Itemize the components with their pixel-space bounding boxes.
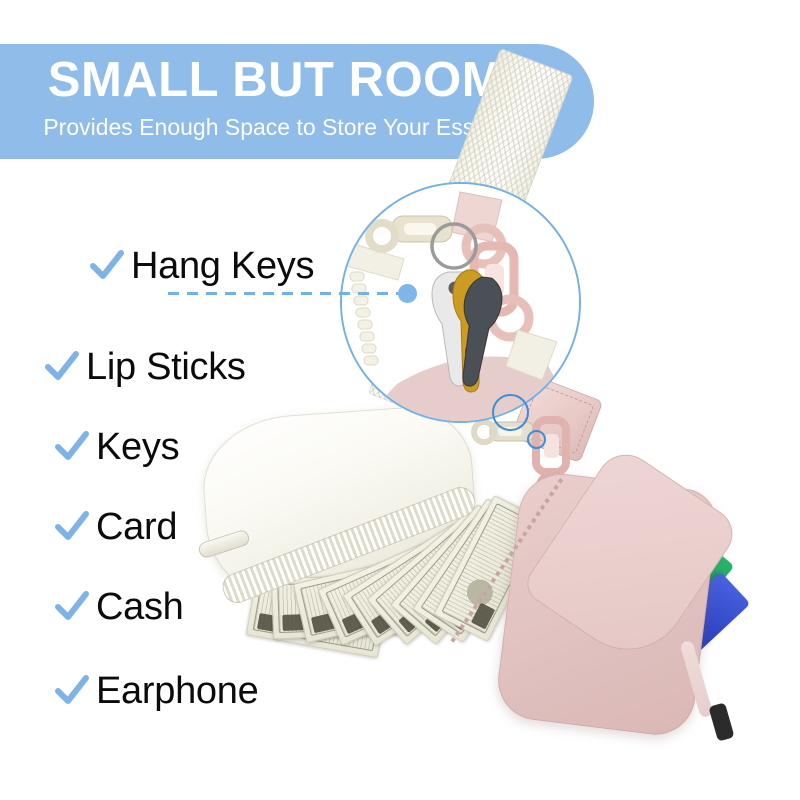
keys-closeup-circle xyxy=(340,182,581,423)
callout-dashed-connector xyxy=(168,292,398,295)
feature-item-keys[interactable]: Keys xyxy=(55,425,179,469)
feature-item-cash[interactable]: Cash xyxy=(55,585,184,629)
feature-label: Cash xyxy=(96,585,184,629)
product-infographic: SMALL BUT ROOMY Provides Enough Space to… xyxy=(0,0,800,800)
feature-item-earphone[interactable]: Earphone xyxy=(55,669,258,713)
feature-label: Keys xyxy=(96,425,179,469)
zipper-cord-tip xyxy=(708,702,734,741)
callout-bubble-large xyxy=(492,394,529,431)
feature-label: Earphone xyxy=(96,669,258,713)
feature-label: Hang Keys xyxy=(131,244,314,288)
check-icon xyxy=(55,511,89,543)
check-icon xyxy=(45,351,79,383)
keys-closeup-illustration xyxy=(342,184,579,421)
feature-item-hang-keys[interactable]: Hang Keys xyxy=(90,244,314,288)
feature-label: Card xyxy=(96,505,177,549)
feature-label: Lip Sticks xyxy=(86,345,246,389)
callout-bubble-small xyxy=(527,430,546,449)
check-icon xyxy=(55,591,89,623)
feature-item-lip-sticks[interactable]: Lip Sticks xyxy=(45,345,246,389)
feature-item-card[interactable]: Card xyxy=(55,505,177,549)
callout-anchor-dot xyxy=(398,284,417,303)
check-icon xyxy=(90,250,124,282)
check-icon xyxy=(55,675,89,707)
check-icon xyxy=(55,431,89,463)
